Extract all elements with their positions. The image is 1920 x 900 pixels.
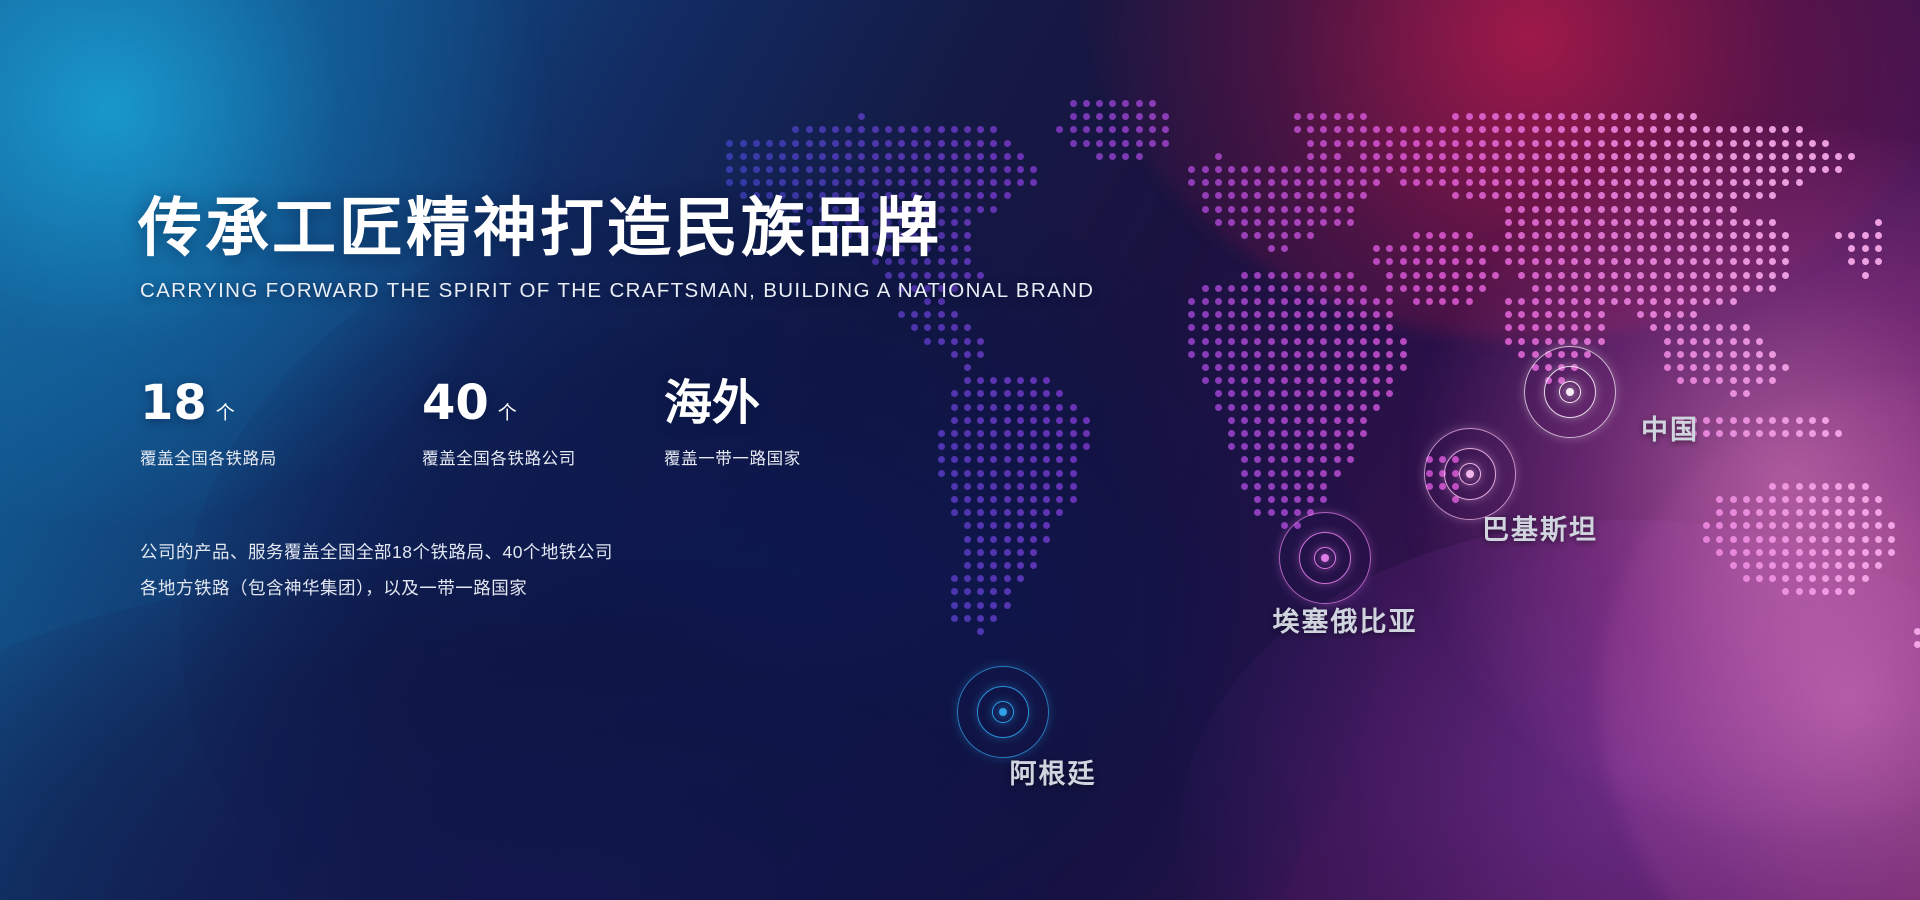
stat-value-group-1: 40 个 (422, 379, 664, 427)
stat-value-group-0: 18 个 (140, 379, 422, 427)
body-copy-line-1: 公司的产品、服务覆盖全国全部18个铁路局、40个地铁公司 (140, 535, 1038, 571)
stat-label-0: 覆盖全国各铁路局 (140, 445, 422, 469)
hero-content: 传承工匠精神打造民族品牌 CARRYING FORWARD THE SPIRIT… (138, 196, 1038, 607)
page-title: 传承工匠精神打造民族品牌 (138, 196, 1038, 263)
stat-value-1: 40 (422, 379, 489, 427)
stat-value-0: 18 (140, 379, 207, 427)
map-marker-label-pakistan: 巴基斯坦 (1482, 508, 1598, 547)
stats-row: 18 个 覆盖全国各铁路局 40 个 覆盖全国各铁路公司 海外 覆盖一带一路国家 (140, 379, 1038, 469)
stat-value-group-2: 海外 (664, 379, 904, 427)
stat-item-1: 40 个 覆盖全国各铁路公司 (422, 379, 664, 469)
body-copy-line-2: 各地方铁路（包含神华集团），以及一带一路国家 (140, 571, 1038, 607)
page-subtitle: CARRYING FORWARD THE SPIRIT OF THE CRAFT… (140, 279, 1038, 303)
stat-label-2: 覆盖一带一路国家 (664, 445, 904, 469)
marker-center-dot-icon (999, 708, 1007, 716)
stat-item-2: 海外 覆盖一带一路国家 (664, 379, 904, 469)
stat-value-2: 海外 (664, 379, 760, 427)
map-marker-label-china: 中国 (1641, 408, 1699, 447)
hero-banner: 中国巴基斯坦埃塞俄比亚阿根廷 传承工匠精神打造民族品牌 CARRYING FOR… (0, 0, 1920, 900)
map-marker-label-argentina: 阿根廷 (1010, 752, 1097, 791)
marker-center-dot-icon (1321, 554, 1329, 562)
stat-label-1: 覆盖全国各铁路公司 (422, 445, 664, 469)
stat-unit-1: 个 (498, 398, 517, 425)
stat-item-0: 18 个 覆盖全国各铁路局 (140, 379, 422, 469)
marker-center-dot-icon (1566, 388, 1574, 396)
marker-center-dot-icon (1466, 470, 1474, 478)
stat-unit-0: 个 (216, 398, 235, 425)
body-copy: 公司的产品、服务覆盖全国全部18个铁路局、40个地铁公司 各地方铁路（包含神华集… (140, 535, 1038, 607)
map-marker-label-ethiopia: 埃塞俄比亚 (1273, 600, 1418, 639)
